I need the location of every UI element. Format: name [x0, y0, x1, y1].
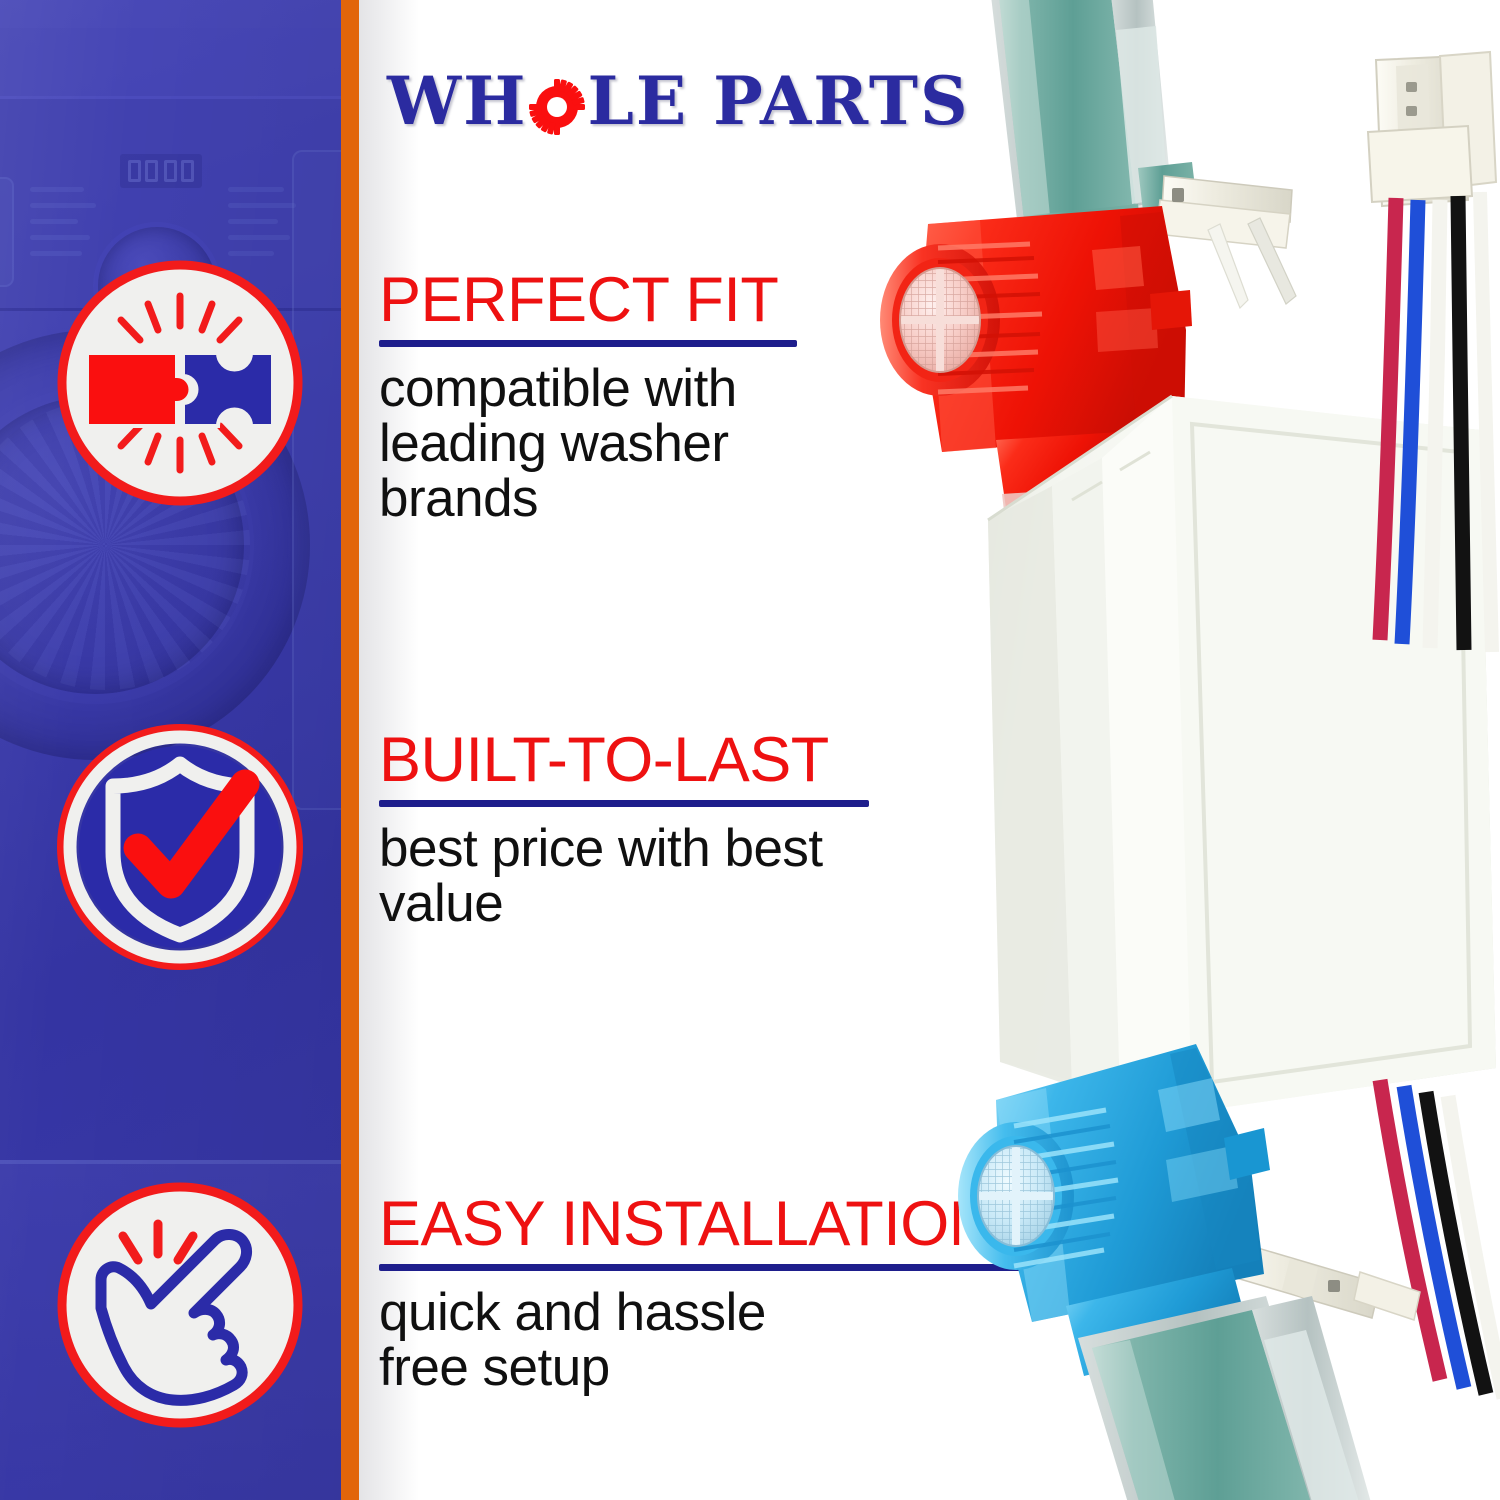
feature-title: PERFECT FIT	[379, 268, 849, 332]
washer-water-inlet-valve	[820, 0, 1500, 1500]
puzzle-pieces-icon	[55, 258, 305, 508]
left-feature-panel	[0, 0, 341, 1500]
shield-check-icon	[55, 722, 305, 972]
feature-description: best price with best value	[379, 821, 849, 931]
gear-icon	[529, 73, 585, 129]
mesh-screen-filter-hot	[900, 268, 980, 372]
feature-block-perfect-fit: PERFECT FIT compatible with leading wash…	[379, 268, 849, 527]
pointing-hand-icon	[55, 1180, 305, 1430]
translucent-valve-body	[988, 396, 1496, 1112]
feature-underline	[379, 800, 869, 807]
orange-divider	[341, 0, 359, 1500]
feature-description: compatible with leading washer brands	[379, 361, 849, 526]
mesh-screen-filter-cold	[978, 1146, 1054, 1246]
feature-description: quick and hassle free setup	[379, 1285, 859, 1395]
feature-block-built-to-last: BUILT-TO-LAST best price with best value	[379, 728, 869, 931]
feature-underline	[379, 340, 797, 347]
feature-title: BUILT-TO-LAST	[379, 728, 869, 792]
logo-text-first: WH	[387, 62, 527, 140]
product-marketing-image: WH	[0, 0, 1500, 1500]
